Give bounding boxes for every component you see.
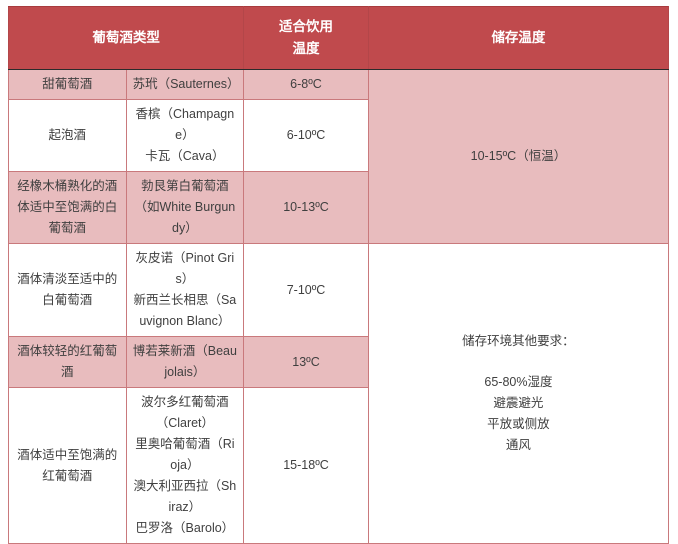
cell-wine-type: 酒体较轻的红葡萄酒: [9, 337, 127, 388]
cell-wine-type: 酒体适中至饱满的红葡萄酒: [9, 388, 127, 544]
serving-temp-header-line-1: 适合饮用: [250, 16, 362, 38]
table-row: 甜葡萄酒 苏玳（Sauternes） 6-8ºC 10-15ºC（恒温）: [9, 70, 669, 100]
table-header-row: 葡萄酒类型 适合饮用 温度 储存温度: [9, 7, 669, 70]
cell-serving-temperature: 10-13ºC: [244, 172, 369, 244]
wine-temperature-table-container: 葡萄酒类型 适合饮用 温度 储存温度 甜葡萄酒 苏玳（Sauternes） 6-…: [8, 6, 669, 476]
cell-wine-examples: 博若莱新酒（Beaujolais）: [126, 337, 244, 388]
example-line: 博若莱新酒（Beaujolais）: [133, 341, 238, 383]
column-header-storage-temperature: 储存温度: [368, 7, 668, 70]
cell-storage-requirements-merged: 储存环境其他要求： 65-80%湿度 避震避光 平放或侧放 通风: [368, 244, 668, 544]
example-line: 新西兰长相思（Sauvignon Blanc）: [133, 290, 238, 332]
storage-requirement-line: 65-80%湿度: [375, 372, 662, 393]
example-line: 苏玳（Sauternes）: [133, 74, 238, 95]
cell-wine-examples: 灰皮诺（Pinot Gris） 新西兰长相思（Sauvignon Blanc）: [126, 244, 244, 337]
table-row: 酒体清淡至适中的白葡萄酒 灰皮诺（Pinot Gris） 新西兰长相思（Sauv…: [9, 244, 669, 337]
cell-wine-examples: 波尔多红葡萄酒（Claret） 里奥哈葡萄酒（Rioja） 澳大利亚西拉（Shi…: [126, 388, 244, 544]
cell-wine-type: 起泡酒: [9, 100, 127, 172]
cell-wine-type: 甜葡萄酒: [9, 70, 127, 100]
example-line: 巴罗洛（Barolo）: [133, 518, 238, 539]
storage-requirement-line: 通风: [375, 435, 662, 456]
example-line: 卡瓦（Cava）: [133, 146, 238, 167]
storage-requirement-line: 避震避光: [375, 393, 662, 414]
storage-requirements-block: 储存环境其他要求： 65-80%湿度 避震避光 平放或侧放 通风: [375, 331, 662, 456]
cell-wine-examples: 勃艮第白葡萄酒（如White Burgundy）: [126, 172, 244, 244]
cell-wine-type: 经橡木桶熟化的酒体适中至饱满的白葡萄酒: [9, 172, 127, 244]
storage-requirements-title: 储存环境其他要求：: [375, 331, 662, 352]
cell-wine-examples: 香槟（Champagne） 卡瓦（Cava）: [126, 100, 244, 172]
cell-serving-temperature: 15-18ºC: [244, 388, 369, 544]
serving-temp-header-line-2: 温度: [250, 38, 362, 60]
example-line: 澳大利亚西拉（Shiraz）: [133, 476, 238, 518]
table-body: 甜葡萄酒 苏玳（Sauternes） 6-8ºC 10-15ºC（恒温） 起泡酒…: [9, 70, 669, 544]
example-line: 香槟（Champagne）: [133, 104, 238, 146]
example-line: 里奥哈葡萄酒（Rioja）: [133, 434, 238, 476]
cell-serving-temperature: 6-10ºC: [244, 100, 369, 172]
cell-wine-examples: 苏玳（Sauternes）: [126, 70, 244, 100]
column-header-wine-type: 葡萄酒类型: [9, 7, 244, 70]
example-line: 波尔多红葡萄酒（Claret）: [133, 392, 238, 434]
storage-requirement-line: 平放或侧放: [375, 414, 662, 435]
cell-wine-type: 酒体清淡至适中的白葡萄酒: [9, 244, 127, 337]
cell-serving-temperature: 7-10ºC: [244, 244, 369, 337]
table-header: 葡萄酒类型 适合饮用 温度 储存温度: [9, 7, 669, 70]
cell-serving-temperature: 13ºC: [244, 337, 369, 388]
example-line: 勃艮第白葡萄酒（如White Burgundy）: [133, 176, 238, 239]
cell-serving-temperature: 6-8ºC: [244, 70, 369, 100]
cell-storage-temperature-merged: 10-15ºC（恒温）: [368, 70, 668, 244]
column-header-serving-temperature: 适合饮用 温度: [244, 7, 369, 70]
example-line: 灰皮诺（Pinot Gris）: [133, 248, 238, 290]
wine-temperature-table: 葡萄酒类型 适合饮用 温度 储存温度 甜葡萄酒 苏玳（Sauternes） 6-…: [8, 6, 669, 544]
